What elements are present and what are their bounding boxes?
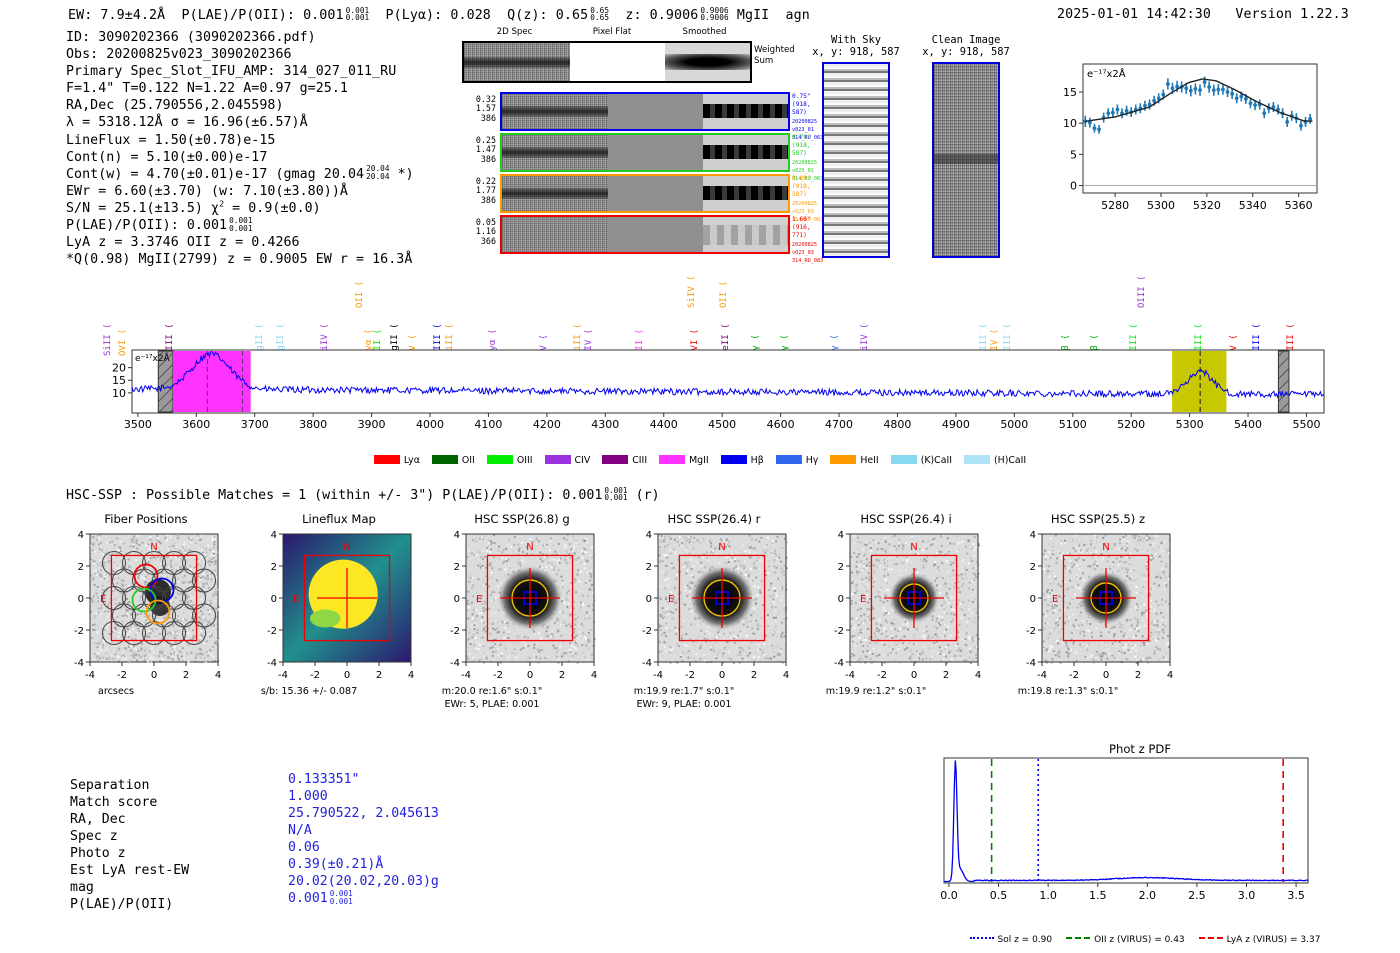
spec-row-meta-0: 1.66": [792, 216, 823, 224]
svg-text:-2: -2: [267, 626, 277, 637]
svg-text:4400: 4400: [650, 418, 678, 431]
spectrum-legend-item: MgII: [659, 455, 709, 466]
svg-text:-2: -2: [117, 670, 127, 681]
header-plya: P(Lyα): 0.028: [386, 8, 491, 23]
spectrum-legend-item: OIII: [487, 455, 533, 466]
svg-text:4000: 4000: [416, 418, 444, 431]
legend-swatch: [545, 455, 571, 464]
with-sky-image: [822, 62, 890, 258]
svg-text:10: 10: [1063, 117, 1077, 130]
svg-text:N: N: [526, 542, 533, 553]
spectrum-line-legend: LyαOIIOIIICIVCIIIMgIIHβHγHeII(K)CaII(H)C…: [0, 455, 1400, 466]
legend-swatch: [776, 455, 802, 464]
header-version: Version 1.22.3: [1235, 7, 1348, 22]
svg-text:e⁻¹⁷x2Å: e⁻¹⁷x2Å: [1087, 67, 1126, 80]
legend-swatch: [721, 455, 747, 464]
header-timestamp-version: 2025-01-01 14:42:30 Version 1.22.3: [1057, 7, 1349, 22]
spectrum-legend-item: (K)CaII: [891, 455, 952, 466]
spec-row-smoothed-image: [703, 217, 788, 252]
match-table-value: 0.39(±0.21)Å: [288, 856, 439, 873]
hsc-panel-title: HSC SSP(26.4) i: [812, 512, 1000, 526]
hsc-panel-title: HSC SSP(25.5) z: [1004, 512, 1192, 526]
svg-text:3600: 3600: [182, 418, 210, 431]
hsc-panel-title: HSC SSP(26.4) r: [620, 512, 808, 526]
line-profile-chart: 05101552805300532053405360e⁻¹⁷x2Å: [1045, 54, 1323, 219]
svg-text:-2: -2: [310, 670, 320, 681]
clean-image-coords: x, y: 918, 587: [916, 46, 1016, 58]
spec-row-2dspec-image: [502, 94, 608, 129]
spec-row: [500, 215, 790, 254]
match-table-key: Photo z: [70, 845, 189, 862]
svg-text:2: 2: [454, 562, 460, 573]
spec-row-stat-2: 386: [458, 114, 496, 123]
hsc-panel-caption-primary: m:20.0 re:1.6" s:0.1": [388, 686, 596, 698]
spec-row-meta-3: v023_03: [792, 249, 823, 257]
svg-text:2: 2: [751, 670, 757, 681]
info-cont-n: Cont(n) = 5.10(±0.00)e-17: [66, 149, 414, 166]
info-cont-w-pre: Cont(w) = 4.70(±0.01)e-17 (gmag 20.04: [66, 167, 364, 182]
info-id: ID: 3090202366 (3090202366.pdf): [66, 29, 414, 46]
svg-text:0: 0: [454, 594, 460, 605]
spectrum-legend-item: Hγ: [776, 455, 819, 466]
photz-legend-label: Sol z = 0.90: [998, 935, 1053, 945]
spectrum-legend-item: OII: [432, 455, 475, 466]
match-table-value: 0.133351": [288, 771, 439, 788]
spec-row-meta-3: v023_03: [792, 208, 823, 216]
header-ew: EW: 7.9±4.2Å: [68, 8, 165, 23]
svg-text:3500: 3500: [124, 418, 152, 431]
svg-text:4: 4: [78, 530, 84, 541]
svg-text:5340: 5340: [1239, 199, 1267, 212]
legend-label: CIII: [632, 455, 647, 466]
info-radec: RA,Dec (25.790556,2.045598): [66, 97, 414, 114]
match-table-key: Separation: [70, 777, 189, 794]
spec-row-stats: 0.321.57386: [458, 95, 496, 123]
header-qz: Q(z): 0.65: [507, 8, 588, 23]
svg-text:10: 10: [112, 387, 126, 400]
spec-row-smoothed-image: [703, 135, 788, 170]
svg-text:E: E: [668, 594, 674, 605]
line-id-label: OII (: [355, 281, 365, 308]
svg-text:5100: 5100: [1059, 418, 1087, 431]
svg-text:4: 4: [271, 530, 277, 541]
clean-image-title: Clean Image: [916, 34, 1016, 46]
spectrum-legend-item: CIII: [602, 455, 647, 466]
svg-text:4600: 4600: [767, 418, 795, 431]
legend-swatch: [659, 455, 685, 464]
match-table-key: P(LAE)/P(OII): [70, 896, 189, 913]
header-species: MgII: [737, 8, 769, 23]
photz-legend-dash: [1199, 937, 1223, 939]
spec-row: [500, 92, 790, 131]
spec-row-meta-0: 0.89": [792, 175, 823, 183]
spec-row: [500, 133, 790, 172]
hsc-panel-caption-primary: m:19.9 re:1.7" s:0.1": [580, 686, 788, 698]
svg-text:4900: 4900: [942, 418, 970, 431]
info-cont-w-post: *): [398, 167, 414, 182]
weighted-sum-smoothed-image: [665, 43, 750, 81]
info-obs: Obs: 20200825v023_3090202366: [66, 46, 414, 63]
hsc-panel-caption-secondary: EWr: 9, PLAE: 0.001: [580, 699, 788, 711]
spec-row-pixelflat-image: [608, 217, 703, 252]
svg-text:4: 4: [454, 530, 460, 541]
full-spectrum-chart: 1015203500360037003800390040004100420043…: [98, 348, 1328, 433]
svg-text:N: N: [150, 542, 157, 553]
svg-text:-2: -2: [685, 670, 695, 681]
svg-text:4200: 4200: [533, 418, 561, 431]
spec-row-pixelflat-image: [608, 135, 703, 170]
spec-row-meta-0: 0.79": [792, 134, 823, 142]
svg-text:-4: -4: [834, 658, 844, 669]
svg-text:4700: 4700: [825, 418, 853, 431]
info-lineflux: LineFlux = 1.50(±0.78)e-15: [66, 132, 414, 149]
spec-row-meta-1: (918, 587): [792, 183, 823, 199]
header-qz-lo: 0.65: [590, 13, 609, 22]
weighted-sum-label: Weighted Sum: [754, 45, 795, 66]
svg-text:N: N: [343, 542, 350, 553]
spectrum-legend-item: (H)CaII: [964, 455, 1026, 466]
svg-text:-2: -2: [642, 626, 652, 637]
spec-row-meta-2: 20200825: [792, 241, 823, 249]
info-sn-chi2: S/N = 25.1(±13.5) χ2 = 0.9(±0.0): [66, 200, 414, 217]
svg-text:0: 0: [1070, 180, 1077, 193]
match-table-key: Est LyA rest-EW: [70, 862, 189, 879]
svg-text:2: 2: [646, 562, 652, 573]
weighted-sum-pixelflat-image: [570, 43, 665, 81]
svg-text:-4: -4: [74, 658, 84, 669]
svg-text:2: 2: [838, 562, 844, 573]
svg-text:-2: -2: [450, 626, 460, 637]
header-plae-label: P(LAE)/P(OII):: [181, 8, 294, 23]
spec-row-meta-2: 20200825: [792, 159, 823, 167]
match-table-value: 0.0010.0010.001: [288, 890, 439, 907]
legend-swatch: [374, 455, 400, 464]
legend-label: (H)CaII: [994, 455, 1026, 466]
line-id-label: OIII (: [1137, 275, 1147, 308]
spectrum-legend-item: Lyα: [374, 455, 420, 466]
col-title-2dspec: 2D Spec: [462, 27, 567, 37]
header-z-lo: 0.9006: [700, 13, 728, 22]
svg-text:2: 2: [943, 670, 949, 681]
header-class: agn: [786, 8, 810, 23]
header-z: z: 0.9006: [625, 8, 698, 23]
svg-text:-4: -4: [461, 670, 471, 681]
svg-text:4100: 4100: [474, 418, 502, 431]
spec-row-meta-3: v023_02: [792, 167, 823, 175]
weighted-sum-2dspec-image: [464, 43, 570, 81]
spec-row-meta-1: (916, 771): [792, 224, 823, 240]
header-summary-line: EW: 7.9±4.2Å P(LAE)/P(OII): 0.0010.0010.…: [68, 7, 810, 23]
legend-label: CIV: [575, 455, 591, 466]
legend-swatch: [602, 455, 628, 464]
legend-swatch: [891, 455, 917, 464]
info-primary-spec: Primary Spec_Slot_IFU_AMP: 314_027_011_R…: [66, 63, 414, 80]
svg-text:-2: -2: [877, 670, 887, 681]
hsc-panel-caption-primary: m:19.8 re:1.3" s:0.1": [964, 686, 1172, 698]
legend-label: OIII: [517, 455, 533, 466]
info-ewr: EWr = 6.60(±3.70) (w: 7.10(±3.80))Å: [66, 183, 414, 200]
svg-text:4: 4: [646, 530, 652, 541]
spec-row: [500, 174, 790, 213]
spec-row-meta-4: 314_RU_083: [792, 257, 823, 265]
line-id-label: OII (: [719, 281, 729, 308]
col-title-pixelflat: Pixel Flat: [567, 27, 657, 37]
info-plae-lo: 0.001: [229, 224, 252, 233]
hsc-panel-title: Lineflux Map: [245, 512, 433, 526]
svg-text:3700: 3700: [241, 418, 269, 431]
svg-text:0: 0: [151, 670, 157, 681]
svg-text:-2: -2: [493, 670, 503, 681]
hsc-panel-row: Fiber PositionsNE-4-4-2-2002244arcsecsLi…: [0, 512, 1400, 727]
svg-text:2: 2: [376, 670, 382, 681]
svg-text:4: 4: [838, 530, 844, 541]
legend-label: Hγ: [806, 455, 819, 466]
svg-text:4300: 4300: [591, 418, 619, 431]
hsc-panel-title: Fiber Positions: [52, 512, 240, 526]
spec-row-meta-0: 0.75": [792, 93, 823, 101]
hsc-panel-caption-secondary: EWr: 5, PLAE: 0.001: [388, 699, 596, 711]
hsc-panel-title: HSC SSP(26.8) g: [428, 512, 616, 526]
hsc-ssp-heading: HSC-SSP : Possible Matches = 1 (within +…: [66, 487, 660, 503]
match-table-value: 20.02(20.02,20.03)g: [288, 873, 439, 890]
hsc-panel-caption-primary: arcsecs: [12, 686, 220, 698]
svg-text:4: 4: [215, 670, 221, 681]
svg-text:0: 0: [646, 594, 652, 605]
svg-text:5000: 5000: [1000, 418, 1028, 431]
match-table-value: 1.000: [288, 788, 439, 805]
photz-legend-item: Sol z = 0.90: [970, 935, 1053, 945]
spec-row-smoothed-image: [703, 94, 788, 129]
svg-text:5200: 5200: [1117, 418, 1145, 431]
spectrum-legend-item: Hβ: [721, 455, 764, 466]
spec-row-2dspec-image: [502, 217, 608, 252]
match-table-key: Spec z: [70, 828, 189, 845]
svg-text:0: 0: [527, 670, 533, 681]
svg-text:5360: 5360: [1285, 199, 1313, 212]
svg-text:15: 15: [112, 374, 126, 387]
spec-row-meta: 1.66"(916, 771)20200825v023_03314_RU_083: [792, 216, 823, 265]
col-title-smoothed: Smoothed: [657, 27, 752, 37]
spec-row-2dspec-image: [502, 135, 608, 170]
svg-text:-4: -4: [267, 658, 277, 669]
svg-text:-4: -4: [653, 670, 663, 681]
svg-text:5500: 5500: [1292, 418, 1320, 431]
svg-text:0: 0: [344, 670, 350, 681]
info-sn-pre: S/N = 25.1(±13.5) χ: [66, 201, 219, 216]
object-info-block: ID: 3090202366 (3090202366.pdf) Obs: 202…: [66, 29, 414, 268]
photz-legend-label: OII z (VIRUS) = 0.43: [1094, 935, 1185, 945]
spec-row-stat-2: 366: [458, 237, 496, 246]
svg-text:2: 2: [559, 670, 565, 681]
photz-legend-item: LyA z (VIRUS) = 3.37: [1199, 935, 1321, 945]
svg-text:4: 4: [783, 670, 789, 681]
spec-row-meta-2: 20200825: [792, 200, 823, 208]
header-plae-value: 0.001: [303, 8, 344, 23]
svg-text:20: 20: [112, 362, 126, 375]
svg-text:E: E: [293, 594, 299, 605]
info-params: F=1.4" T=0.122 N=1.22 A=0.97 g=25.1: [66, 80, 414, 97]
legend-label: (K)CaII: [921, 455, 952, 466]
match-table-key: RA, Dec: [70, 811, 189, 828]
svg-text:0: 0: [838, 594, 844, 605]
clean-image-data: [932, 62, 1000, 258]
spec-row-pixelflat-image: [608, 176, 703, 211]
info-q-line: *Q(0.98) MgII(2799) z = 0.9005 EW r = 16…: [66, 251, 414, 268]
spec-row-meta-3: v023_01: [792, 126, 823, 134]
svg-text:-2: -2: [834, 626, 844, 637]
svg-text:-4: -4: [450, 658, 460, 669]
svg-text:E: E: [860, 594, 866, 605]
spectrum-legend-item: CIV: [545, 455, 591, 466]
info-lambda-sigma: λ = 5318.12Å σ = 16.96(±6.57)Å: [66, 114, 414, 131]
match-table-key: Match score: [70, 794, 189, 811]
photz-legend-item: OII z (VIRUS) = 0.43: [1066, 935, 1185, 945]
header-plae-lo: 0.001: [346, 13, 370, 22]
legend-label: OII: [462, 455, 475, 466]
photz-legend-dash: [970, 937, 994, 939]
photz-legend-dash: [1066, 937, 1090, 939]
svg-text:0: 0: [719, 670, 725, 681]
svg-text:-4: -4: [278, 670, 288, 681]
svg-text:N: N: [718, 542, 725, 553]
phot-z-pdf-legend: Sol z = 0.90OII z (VIRUS) = 0.43LyA z (V…: [930, 935, 1360, 945]
hsc-heading-text: HSC-SSP : Possible Matches = 1 (within +…: [66, 488, 602, 503]
spec-row-stats: 0.051.16366: [458, 218, 496, 246]
info-sn-post: = 0.9(±0.0): [224, 201, 321, 216]
svg-text:5300: 5300: [1147, 199, 1175, 212]
match-plae-bounds: 0.0010.001: [330, 890, 353, 906]
hsc-heading-lo: 0.001: [604, 493, 627, 502]
svg-text:5: 5: [1070, 148, 1077, 161]
info-cont-w: Cont(w) = 4.70(±0.01)e-17 (gmag 20.0420.…: [66, 166, 414, 183]
svg-text:3800: 3800: [299, 418, 327, 431]
svg-text:0: 0: [271, 594, 277, 605]
legend-swatch: [830, 455, 856, 464]
svg-text:e⁻¹⁷x2Å: e⁻¹⁷x2Å: [135, 352, 171, 364]
hsc-panel-caption-primary: m:19.9 re:1.2" s:0.1": [772, 686, 980, 698]
info-cont-w-lo: 20.04: [366, 172, 389, 181]
spectrum-legend-item: HeII: [830, 455, 878, 466]
hsc-heading-band: (r): [636, 488, 660, 503]
match-table-value: N/A: [288, 822, 439, 839]
spec-row-meta-1: (918, 587): [792, 101, 823, 117]
svg-text:15: 15: [1063, 86, 1077, 99]
svg-text:4: 4: [591, 670, 597, 681]
legend-label: MgII: [689, 455, 709, 466]
legend-swatch: [432, 455, 458, 464]
svg-text:0: 0: [78, 594, 84, 605]
svg-text:0: 0: [911, 670, 917, 681]
svg-text:-4: -4: [642, 658, 652, 669]
svg-text:4500: 4500: [708, 418, 736, 431]
with-sky-coords: x, y: 918, 587: [806, 46, 906, 58]
spec-row-meta-2: 20200825: [792, 118, 823, 126]
spec-row-stat-2: 386: [458, 155, 496, 164]
legend-label: Lyα: [404, 455, 420, 466]
svg-text:E: E: [476, 594, 482, 605]
svg-text:4: 4: [408, 670, 414, 681]
svg-text:-2: -2: [74, 626, 84, 637]
spec-row-stats: 0.251.47386: [458, 136, 496, 164]
svg-text:2: 2: [183, 670, 189, 681]
hsc-panel-caption-primary: s/b: 15.36 +/- 0.087: [205, 686, 413, 698]
spec-row-stat-2: 386: [458, 196, 496, 205]
svg-text:4800: 4800: [883, 418, 911, 431]
svg-text:E: E: [100, 594, 106, 605]
spec-row-pixelflat-image: [608, 94, 703, 129]
match-table-values: 0.133351"1.00025.790522, 2.045613N/A0.06…: [288, 771, 439, 907]
spec-row-smoothed-image: [703, 176, 788, 211]
svg-text:2: 2: [271, 562, 277, 573]
legend-swatch: [487, 455, 513, 464]
emission-line-id-labels: SiII (OVI (CIII (MgII (MgII (SiIV (OII (…: [0, 280, 1400, 350]
spec-row-2dspec-image: [502, 176, 608, 211]
info-plae: P(LAE)/P(OII): 0.0010.0010.001: [66, 217, 414, 234]
svg-text:5280: 5280: [1101, 199, 1129, 212]
svg-text:5400: 5400: [1234, 418, 1262, 431]
svg-text:4: 4: [975, 670, 981, 681]
info-z-lines: LyA z = 3.3746 OII z = 0.4266: [66, 234, 414, 251]
legend-label: HeII: [860, 455, 878, 466]
header-timestamp: 2025-01-01 14:42:30: [1057, 7, 1211, 22]
line-id-label: SiIV (: [687, 275, 697, 308]
with-sky-title: With Sky: [806, 34, 906, 46]
legend-label: Hβ: [751, 455, 764, 466]
svg-text:2: 2: [78, 562, 84, 573]
svg-text:5320: 5320: [1193, 199, 1221, 212]
svg-text:-4: -4: [845, 670, 855, 681]
spec-row-stats: 0.221.77386: [458, 177, 496, 205]
weighted-sum-row: [462, 41, 752, 83]
match-table-value: 0.06: [288, 839, 439, 856]
info-plae-label: P(LAE)/P(OII): 0.001: [66, 218, 227, 233]
spec-row-meta-1: (918, 587): [792, 142, 823, 158]
svg-text:-4: -4: [85, 670, 95, 681]
svg-text:5300: 5300: [1176, 418, 1204, 431]
svg-text:3900: 3900: [358, 418, 386, 431]
svg-text:N: N: [910, 542, 917, 553]
phot-z-pdf-chart: 0.00.51.01.52.02.53.03.5: [934, 752, 1314, 907]
match-table-keys: SeparationMatch scoreRA, DecSpec zPhoto …: [70, 777, 189, 913]
match-table-value: 25.790522, 2.045613: [288, 805, 439, 822]
legend-swatch: [964, 455, 990, 464]
match-table-key: mag: [70, 879, 189, 896]
photz-legend-label: LyA z (VIRUS) = 3.37: [1227, 935, 1321, 945]
